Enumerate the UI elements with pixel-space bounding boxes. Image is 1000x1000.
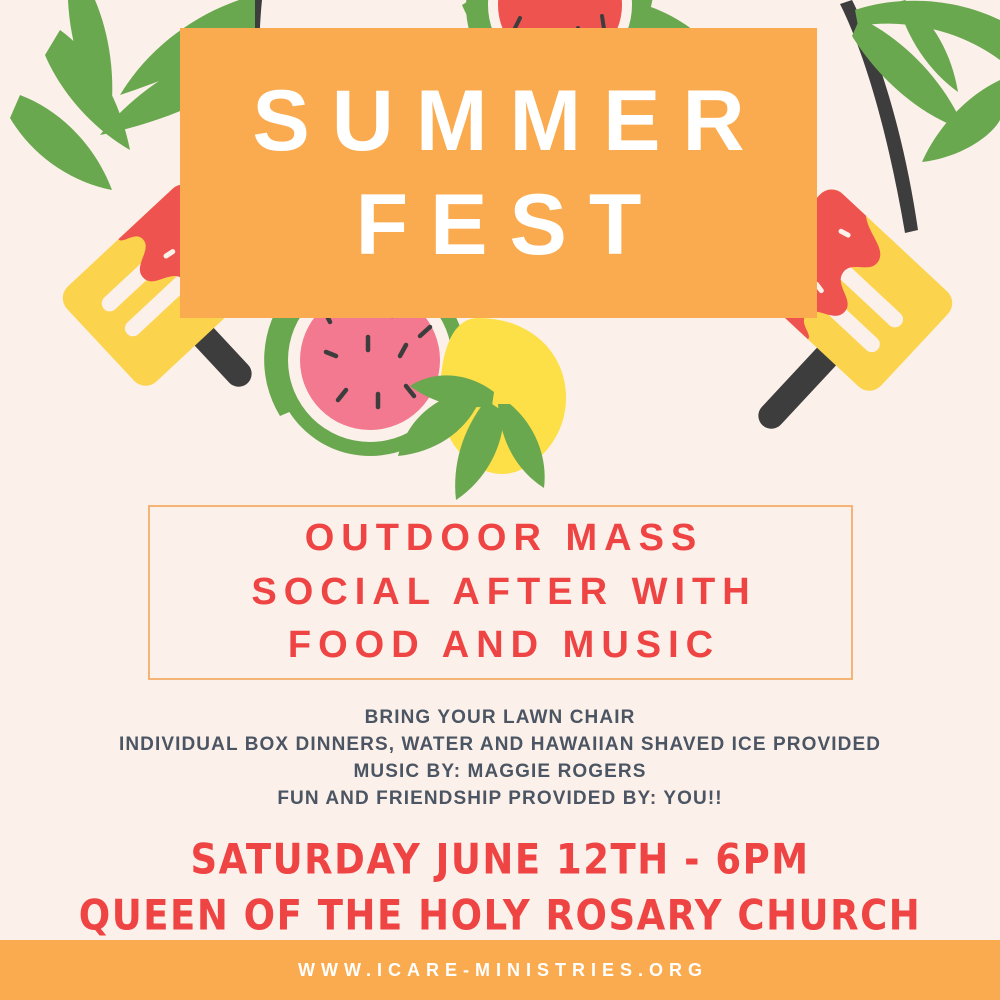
event-location: QUEEN OF THE HOLY ROSARY CHURCH: [0, 884, 1000, 946]
headline-line-2: SOCIAL AFTER WITH: [244, 566, 756, 620]
website-url[interactable]: WWW.ICARE-MINISTRIES.ORG: [292, 960, 708, 981]
headline-box: OUTDOOR MASS SOCIAL AFTER WITH FOOD AND …: [148, 505, 853, 680]
summer-fest-poster: SUMMER FEST OUTDOOR MASS SOCIAL AFTER WI…: [0, 0, 1000, 1000]
title-line-2: FEST: [334, 180, 664, 270]
when-where-block: SATURDAY JUNE 12TH - 6PM QUEEN OF THE HO…: [0, 832, 1000, 943]
details-line-2: INDIVIDUAL BOX DINNERS, WATER AND HAWAII…: [0, 732, 1000, 759]
title-line-1: SUMMER: [230, 76, 766, 166]
details-line-4: FUN AND FRIENDSHIP PROVIDED BY: YOU!!: [0, 786, 1000, 813]
details-line-3: MUSIC BY: MAGGIE ROGERS: [0, 759, 1000, 786]
details-block: BRING YOUR LAWN CHAIR INDIVIDUAL BOX DIN…: [0, 705, 1000, 813]
details-line-1: BRING YOUR LAWN CHAIR: [0, 705, 1000, 732]
pineapple-icon: [398, 318, 566, 500]
headline-line-1: OUTDOOR MASS: [298, 512, 704, 566]
event-date-time: SATURDAY JUNE 12TH - 6PM: [0, 829, 1000, 891]
palm-tree-icon-top-right: [840, 0, 1000, 233]
title-band: SUMMER FEST: [180, 28, 817, 318]
headline-line-3: FOOD AND MUSIC: [281, 619, 720, 673]
footer-bar: WWW.ICARE-MINISTRIES.ORG: [0, 940, 1000, 1000]
